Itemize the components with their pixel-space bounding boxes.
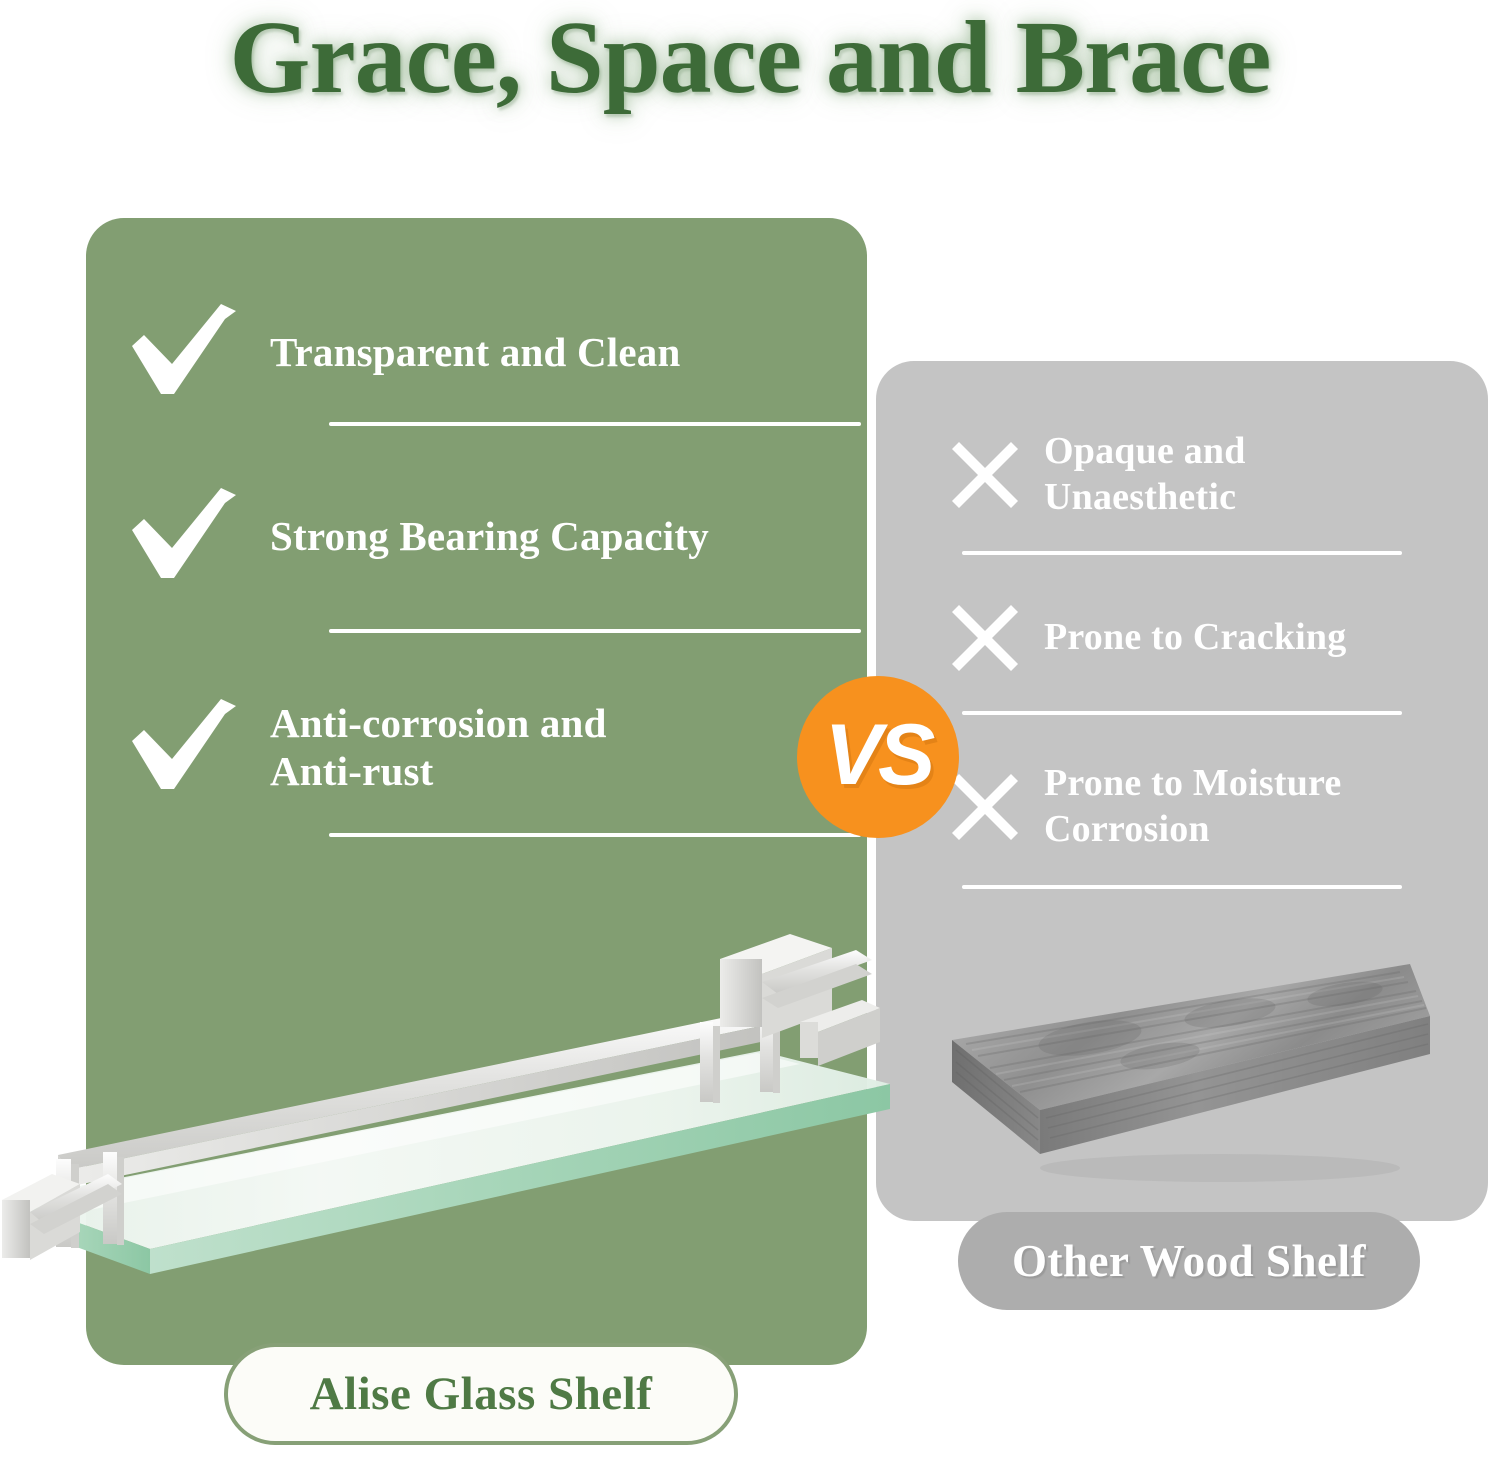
feature-divider	[329, 833, 861, 837]
vs-label: VS	[825, 712, 932, 798]
feature-item: Anti-corrosion and Anti-rust	[128, 697, 828, 797]
drawback-item: Opaque and Unaesthetic	[948, 429, 1488, 520]
drawback-label: Prone to Cracking	[1044, 615, 1346, 661]
check-icon	[128, 486, 240, 586]
feature-item: Transparent and Clean	[128, 302, 828, 402]
drawback-item: Prone to Cracking	[948, 601, 1488, 675]
feature-label: Transparent and Clean	[270, 328, 680, 376]
glass-shelf-product-image	[0, 912, 900, 1312]
drawback-divider	[962, 711, 1402, 715]
cross-icon	[948, 601, 1022, 675]
left-product-label: Alise Glass Shelf	[310, 1367, 653, 1421]
drawback-label: Opaque and Unaesthetic	[1044, 429, 1246, 520]
feature-divider	[329, 422, 861, 426]
drawback-item: Prone to Moisture Corrosion	[948, 761, 1488, 852]
drawback-divider	[962, 885, 1402, 889]
feature-label: Anti-corrosion and Anti-rust	[270, 699, 607, 796]
check-icon	[128, 697, 240, 797]
check-icon	[128, 302, 240, 402]
drawback-divider	[962, 551, 1402, 555]
cross-icon	[948, 770, 1022, 844]
drawback-label: Prone to Moisture Corrosion	[1044, 761, 1342, 852]
cross-icon	[948, 438, 1022, 512]
vs-badge: VS	[797, 676, 959, 838]
wood-shelf-product-image	[930, 958, 1440, 1208]
right-product-label: Other Wood Shelf	[1012, 1235, 1366, 1287]
feature-item: Strong Bearing Capacity	[128, 486, 828, 586]
page-title: Grace, Space and Brace	[0, 2, 1500, 114]
feature-label: Strong Bearing Capacity	[270, 512, 709, 560]
left-product-label-pill: Alise Glass Shelf	[224, 1343, 738, 1445]
feature-divider	[329, 629, 861, 633]
right-product-label-pill: Other Wood Shelf	[958, 1212, 1420, 1310]
comparison-infographic: Grace, Space and Brace Transparent and C…	[0, 0, 1500, 1459]
